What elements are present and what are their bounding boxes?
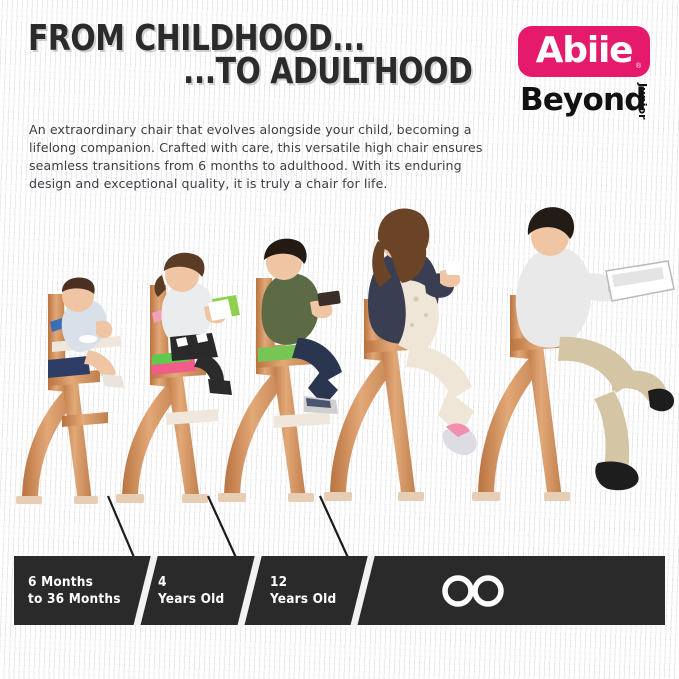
timeline-segment-1-line-2: to 36 Months bbox=[28, 591, 138, 608]
timeline-segment-2: 4 Years Old bbox=[158, 556, 248, 625]
figure-man-with-book bbox=[462, 195, 677, 505]
timeline-segment-3-line-2: Years Old bbox=[270, 591, 360, 608]
timeline-segment-3: 12 Years Old bbox=[270, 556, 360, 625]
connector-line-1 bbox=[108, 496, 136, 562]
registered-trademark-icon: ® bbox=[636, 63, 641, 70]
connector-line-2 bbox=[208, 496, 238, 562]
description-paragraph: An extraordinary chair that evolves alon… bbox=[29, 121, 494, 194]
timeline-segment-2-line-1: 4 bbox=[158, 574, 248, 591]
timeline-segment-2-line-2: Years Old bbox=[158, 591, 248, 608]
headline-line-2: ...TO ADULTHOOD bbox=[66, 55, 498, 88]
timeline-segment-1: 6 Months to 36 Months bbox=[28, 556, 138, 625]
timeline-segment-3-line-1: 12 bbox=[270, 574, 360, 591]
brand-name: Abiie bbox=[518, 26, 650, 77]
timeline-segment-1-line-1: 6 Months bbox=[28, 574, 138, 591]
page-title: FROM CHILDHOOD... ...TO ADULTHOOD bbox=[28, 22, 498, 88]
product-variant: Junior bbox=[636, 83, 649, 120]
brand-logo: Abiie ® Beyond Junior bbox=[508, 26, 668, 131]
product-infographic: FROM CHILDHOOD... ...TO ADULTHOOD An ext… bbox=[0, 0, 679, 679]
infinity-icon bbox=[440, 574, 508, 608]
brand-logo-pill: Abiie ® bbox=[518, 26, 650, 77]
connector-line-3 bbox=[320, 496, 350, 562]
product-name: Beyond bbox=[520, 82, 646, 118]
chair-lineup-scene bbox=[0, 200, 679, 520]
age-timeline-bar: 6 Months to 36 Months 4 Years Old 12 Yea… bbox=[14, 556, 665, 625]
